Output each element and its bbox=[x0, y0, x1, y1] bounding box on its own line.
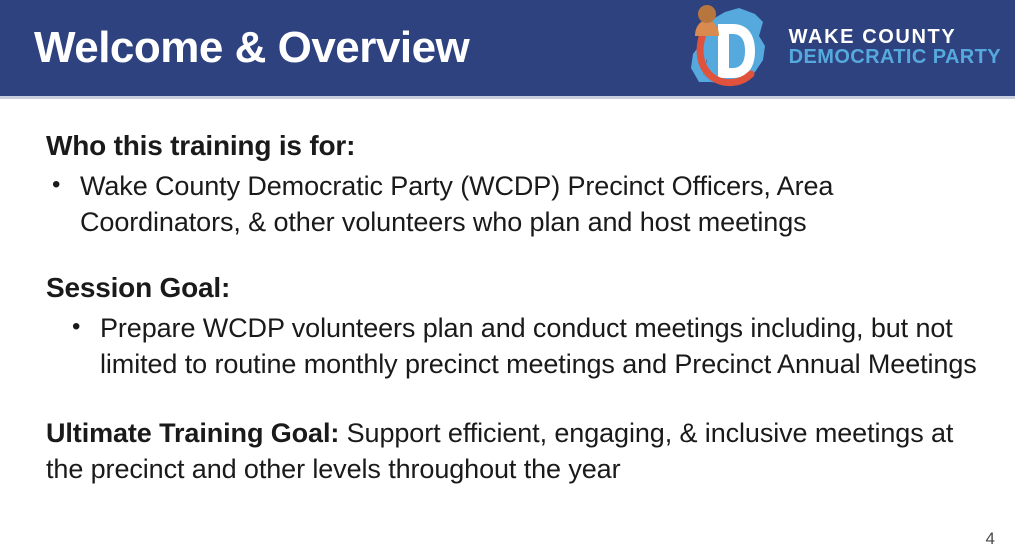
slide: Welcome & Overview bbox=[0, 0, 1015, 557]
slide-header: Welcome & Overview bbox=[0, 0, 1015, 96]
bullet-marker-icon: • bbox=[46, 310, 100, 345]
list-item: • Prepare WCDP volunteers plan and condu… bbox=[46, 310, 995, 383]
page-title: Welcome & Overview bbox=[0, 26, 469, 70]
logo-wordmark: WAKE COUNTY DEMOCRATIC PARTY bbox=[789, 27, 1001, 70]
list-item-text: Wake County Democratic Party (WCDP) Prec… bbox=[80, 168, 995, 241]
logo-line-wake-county: WAKE COUNTY bbox=[789, 27, 1001, 47]
slide-body: Who this training is for: • Wake County … bbox=[0, 99, 1015, 557]
page-number: 4 bbox=[986, 529, 995, 549]
section-heading: Who this training is for: bbox=[46, 129, 995, 162]
logo-line-democratic-party: DEMOCRATIC PARTY bbox=[789, 47, 1001, 67]
ultimate-goal-label: Ultimate Training Goal: bbox=[46, 418, 339, 448]
list-item: • Wake County Democratic Party (WCDP) Pr… bbox=[46, 168, 995, 241]
section-session-goal: Session Goal: • Prepare WCDP volunteers … bbox=[46, 271, 995, 383]
list-item-text: Prepare WCDP volunteers plan and conduct… bbox=[100, 310, 995, 383]
wcdp-logo-icon bbox=[677, 2, 783, 94]
section-ultimate-training-goal: Ultimate Training Goal: Support efficien… bbox=[46, 415, 995, 488]
section-heading: Session Goal: bbox=[46, 271, 995, 304]
bullet-marker-icon: • bbox=[46, 168, 80, 203]
logo-lockup: WAKE COUNTY DEMOCRATIC PARTY bbox=[677, 2, 1015, 94]
section-who-this-training-is-for: Who this training is for: • Wake County … bbox=[46, 129, 995, 241]
